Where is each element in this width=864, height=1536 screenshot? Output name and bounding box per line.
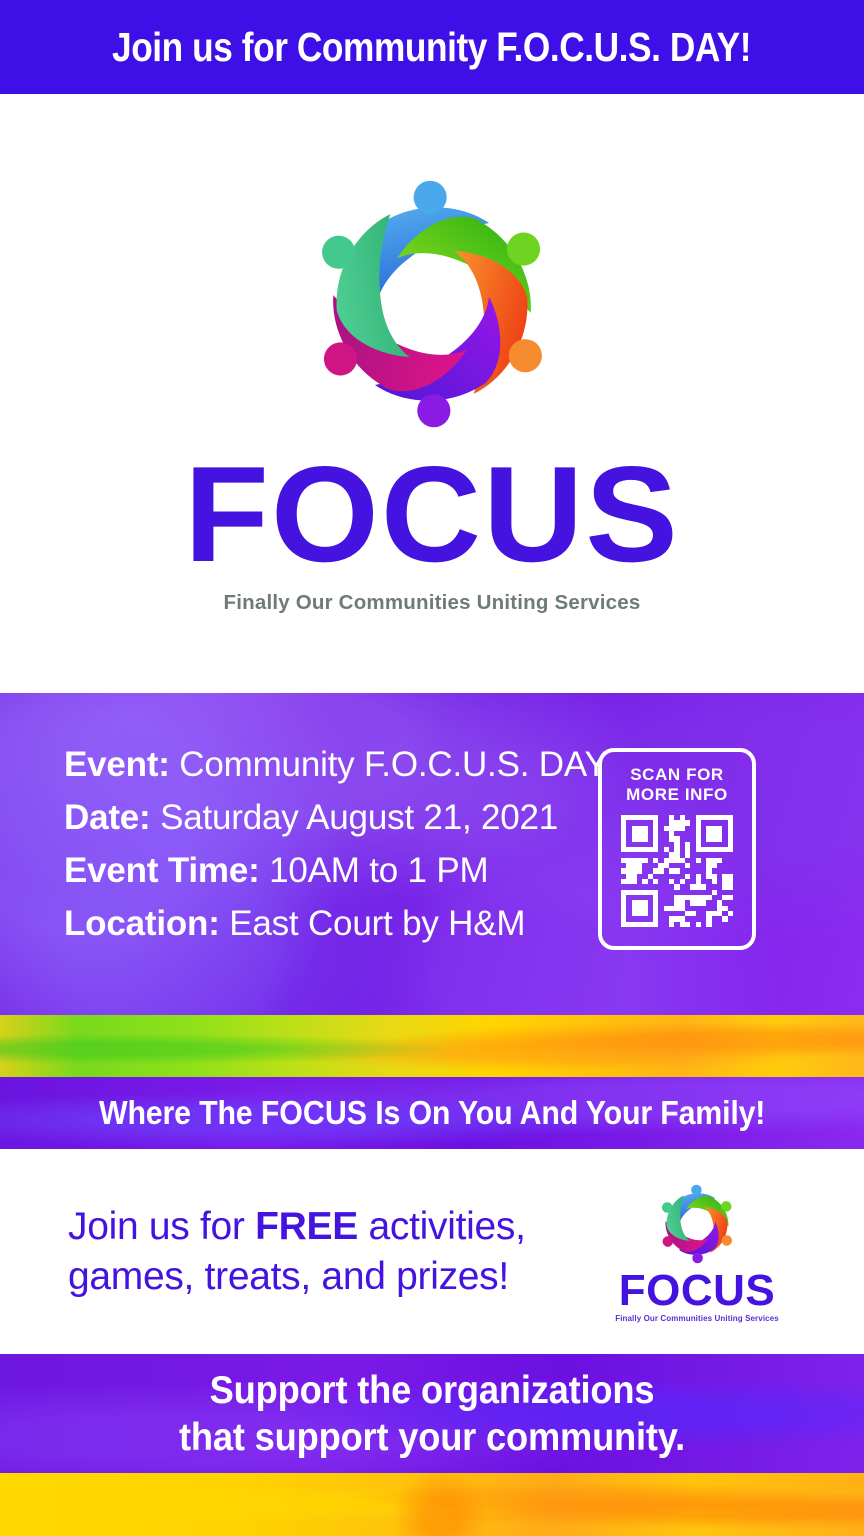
- free-activities-section: Join us for FREE activities, games, trea…: [0, 1149, 864, 1354]
- focus-statement-emphasis: FOCUS: [261, 1094, 367, 1131]
- free-before: Join us for: [68, 1205, 255, 1248]
- location-value: East Court by H&M: [229, 904, 525, 943]
- qr-code-icon[interactable]: [621, 815, 733, 927]
- location-label: Location:: [64, 904, 220, 943]
- event-details-list: Event: Community F.O.C.U.S. DAY Date: Sa…: [64, 739, 608, 949]
- event-label: Event:: [64, 745, 170, 784]
- time-label: Event Time:: [64, 851, 260, 890]
- footer-focus-wordmark: FOCUS: [619, 1270, 776, 1312]
- footer-focus-lockup: FOCUS Finally Our Communities Uniting Se…: [612, 1180, 782, 1324]
- event-detail-row: Location: East Court by H&M: [64, 898, 608, 949]
- support-line-1: Support the organizations: [179, 1367, 685, 1414]
- focus-people-circle-logo-icon: [294, 166, 570, 442]
- event-detail-row: Date: Saturday August 21, 2021: [64, 792, 608, 843]
- free-activities-line-2: games, treats, and prizes!: [68, 1252, 526, 1302]
- rainbow-divider-top: [0, 1015, 864, 1077]
- footer-focus-tagline: Finally Our Communities Uniting Services: [615, 1314, 779, 1323]
- qr-caption-line-1: SCAN FOR: [630, 765, 724, 785]
- free-after: activities,: [358, 1205, 526, 1248]
- free-emphasis: FREE: [255, 1205, 358, 1248]
- date-label: Date:: [64, 798, 151, 837]
- event-value: Community F.O.C.U.S. DAY: [179, 745, 607, 784]
- event-detail-row: Event Time: 10AM to 1 PM: [64, 845, 608, 896]
- focus-statement-text: Where The FOCUS Is On You And Your Famil…: [99, 1094, 765, 1132]
- time-value: 10AM to 1 PM: [269, 851, 488, 890]
- focus-tagline: Finally Our Communities Uniting Services: [224, 591, 641, 615]
- date-value: Saturday August 21, 2021: [160, 798, 558, 837]
- focus-wordmark: FOCUS: [184, 452, 680, 577]
- event-detail-row: Event: Community F.O.C.U.S. DAY: [64, 739, 608, 790]
- focus-statement-band: Where The FOCUS Is On You And Your Famil…: [0, 1077, 864, 1149]
- scan-qr-card[interactable]: SCAN FOR MORE INFO: [598, 748, 756, 950]
- focus-statement-after: Is On You And Your Family!: [367, 1094, 765, 1131]
- support-text: Support the organizations that support y…: [179, 1367, 685, 1461]
- free-activities-line-1: Join us for FREE activities,: [68, 1202, 526, 1252]
- focus-people-circle-logo-icon: [653, 1180, 741, 1268]
- free-activities-text: Join us for FREE activities, games, trea…: [68, 1202, 526, 1302]
- qr-caption-line-2: MORE INFO: [626, 785, 728, 805]
- top-banner-title: Join us for Community F.O.C.U.S. DAY!: [112, 24, 751, 71]
- support-line-2: that support your community.: [179, 1414, 685, 1461]
- bottom-gradient-strip: [0, 1473, 864, 1536]
- support-organizations-band: Support the organizations that support y…: [0, 1354, 864, 1473]
- focus-statement-before: Where The: [99, 1094, 261, 1131]
- hero-logo-section: FOCUS Finally Our Communities Uniting Se…: [0, 94, 864, 693]
- top-banner: Join us for Community F.O.C.U.S. DAY!: [0, 0, 864, 94]
